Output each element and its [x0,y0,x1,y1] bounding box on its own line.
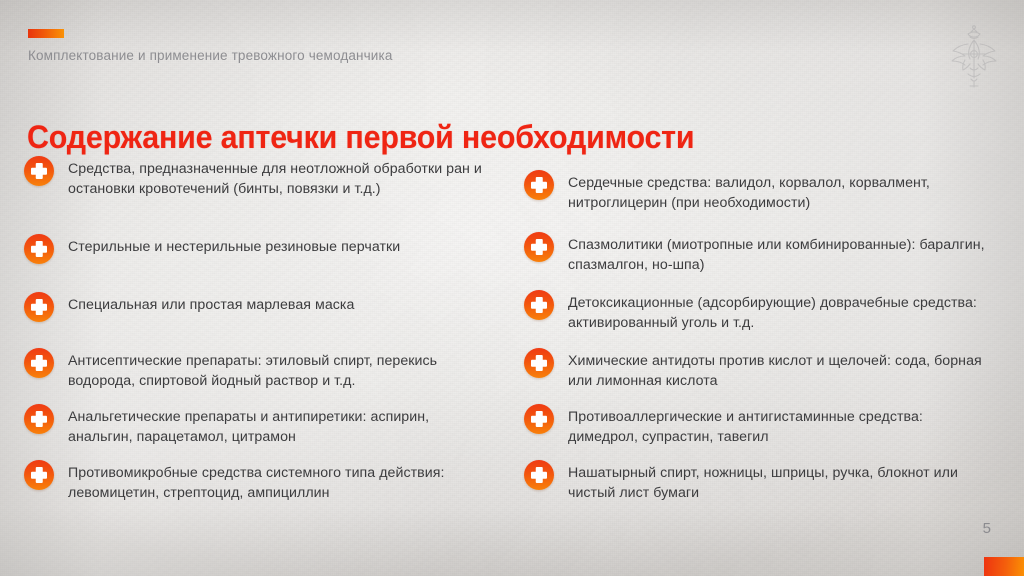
plus-circle-icon [24,234,54,264]
plus-circle-icon [524,290,554,320]
list-item-text: Спазмолитики (миотропные или комбинирова… [568,232,994,275]
presentation-slide: Комплектование и применение тревожного ч… [0,0,1024,576]
list-item-text: Противоаллергические и антигистаминные с… [568,404,994,447]
list-item-text: Анальгетические препараты и антипиретики… [68,404,494,447]
page-number: 5 [983,520,991,537]
list-item: Химические антидоты против кислот и щело… [524,348,994,391]
list-item: Сердечные средства: валидол, корвалол, к… [524,170,994,213]
content-columns: Средства, предназначенные для неотложной… [0,156,1024,516]
list-item: Нашатырный спирт, ножницы, шприцы, ручка… [524,460,994,503]
list-item-text: Химические антидоты против кислот и щело… [568,348,994,391]
list-item-text: Нашатырный спирт, ножницы, шприцы, ручка… [568,460,994,503]
corner-accent-block [984,557,1024,576]
list-item: Средства, предназначенные для неотложной… [24,156,494,199]
plus-circle-icon [524,404,554,434]
emercom-eagle-emblem [946,24,1002,90]
list-item-text: Сердечные средства: валидол, корвалол, к… [568,170,994,213]
slide-kicker: Комплектование и применение тревожного ч… [28,48,393,63]
accent-bar [28,29,64,38]
plus-circle-icon [524,460,554,490]
list-item: Антисептические препараты: этиловый спир… [24,348,494,391]
plus-circle-icon [24,348,54,378]
list-item: Детоксикационные (адсорбирующие) довраче… [524,290,994,333]
plus-circle-icon [24,156,54,186]
plus-circle-icon [524,232,554,262]
list-item: Анальгетические препараты и антипиретики… [24,404,494,447]
list-item-text: Противомикробные средства системного тип… [68,460,494,503]
list-item-text: Антисептические препараты: этиловый спир… [68,348,494,391]
list-item: Стерильные и нестерильные резиновые перч… [24,234,494,264]
plus-circle-icon [524,170,554,200]
list-item-text: Стерильные и нестерильные резиновые перч… [68,234,400,258]
plus-circle-icon [524,348,554,378]
list-item-text: Средства, предназначенные для неотложной… [68,156,494,199]
list-item: Специальная или простая марлевая маска [24,292,494,322]
plus-circle-icon [24,460,54,490]
list-item-text: Детоксикационные (адсорбирующие) довраче… [568,290,994,333]
plus-circle-icon [24,292,54,322]
list-item: Спазмолитики (миотропные или комбинирова… [524,232,994,275]
page-title: Содержание аптечки первой необходимости [27,121,694,155]
plus-circle-icon [24,404,54,434]
list-item: Противоаллергические и антигистаминные с… [524,404,994,447]
list-item: Противомикробные средства системного тип… [24,460,494,503]
list-item-text: Специальная или простая марлевая маска [68,292,354,316]
